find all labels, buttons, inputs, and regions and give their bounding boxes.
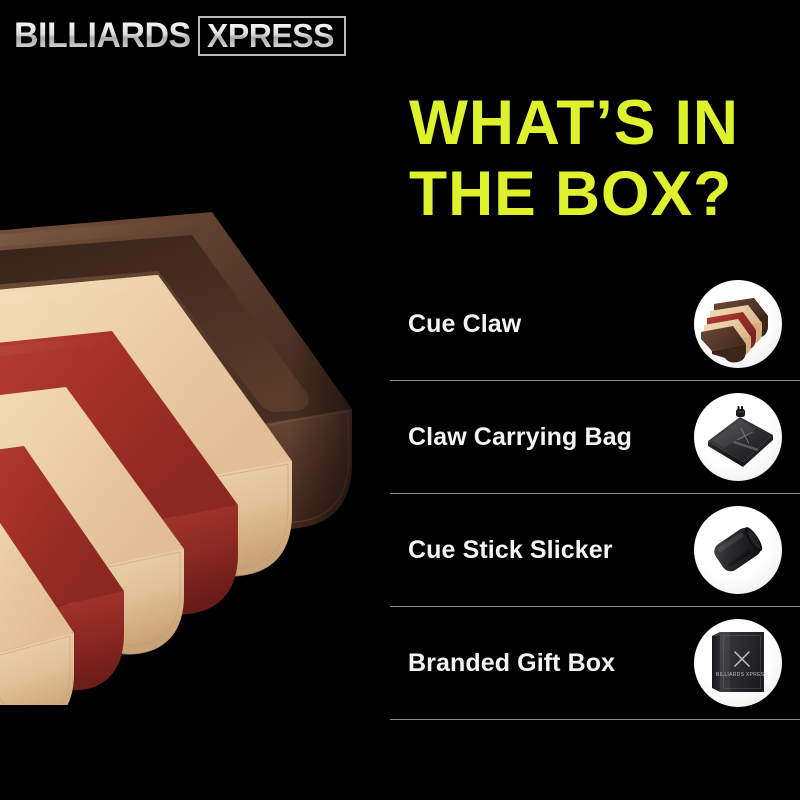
thumb-circle: [694, 506, 782, 594]
contents-item-label: Cue Claw: [390, 310, 688, 339]
contents-item-label: Branded Gift Box: [390, 649, 688, 678]
contents-item-label: Cue Stick Slicker: [390, 536, 688, 565]
brand-name-primary: BILLIARDS: [14, 16, 191, 56]
box-contents-list: Cue Claw: [390, 268, 800, 720]
page-title: WHAT’S IN THE BOX?: [409, 88, 789, 230]
gift-box-thumb-art: BILLIARDS XPRESS: [694, 619, 782, 707]
cue-claw-illustration: [0, 195, 390, 705]
carrying-bag-thumb: [688, 387, 788, 487]
list-item: Claw Carrying Bag: [390, 381, 800, 494]
gift-box-thumb: BILLIARDS XPRESS: [688, 613, 788, 713]
hero-product-photo: [0, 195, 390, 705]
list-item: Cue Claw: [390, 268, 800, 381]
contents-item-label: Claw Carrying Bag: [390, 423, 688, 452]
list-item: Branded Gift Box: [390, 607, 800, 720]
list-item: Cue Stick Slicker: [390, 494, 800, 607]
brand-name-box: XPRESS: [198, 16, 346, 56]
cue-stick-slicker-thumb-art: [694, 506, 782, 594]
cue-stick-slicker-thumb: [688, 500, 788, 600]
bottom-fade-overlay: [0, 720, 800, 800]
carrying-bag-thumb-art: [694, 393, 782, 481]
headline-line-1: WHAT’S IN: [409, 88, 785, 159]
thumb-circle: BILLIARDS XPRESS: [694, 619, 782, 707]
thumb-circle: [694, 280, 782, 368]
cue-claw-thumb-art: [694, 280, 782, 368]
infographic-canvas: BILLIARDS XPRESS: [0, 0, 800, 800]
thumb-circle: [694, 393, 782, 481]
cue-claw-thumb: [688, 274, 788, 374]
brand-name-secondary: XPRESS: [207, 19, 334, 53]
headline-line-2: THE BOX?: [409, 159, 785, 230]
brand-logo: BILLIARDS XPRESS: [14, 16, 346, 56]
